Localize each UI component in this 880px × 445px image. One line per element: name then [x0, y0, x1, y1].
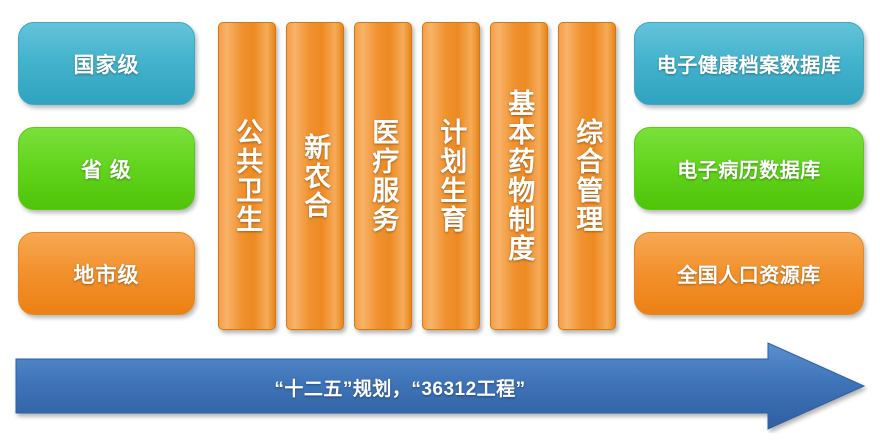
- diagram-canvas: 国家级 省 级 地市级 公共卫生 新农合 医疗服务 计划生育 基本药物制度 综合…: [0, 0, 880, 445]
- pillar-integrated-management[interactable]: 综合管理: [558, 22, 616, 330]
- database-box-emr[interactable]: 电子病历数据库: [634, 127, 864, 210]
- level-box-national-label: 国家级: [74, 49, 140, 79]
- strategy-arrow-banner[interactable]: [14, 341, 868, 433]
- pillar-new-rural-coop-label: 新农合: [301, 133, 330, 220]
- level-box-provincial[interactable]: 省 级: [18, 127, 195, 210]
- database-box-population[interactable]: 全国人口资源库: [634, 232, 864, 315]
- pillar-public-health[interactable]: 公共卫生: [218, 22, 276, 330]
- pillar-family-planning[interactable]: 计划生育: [422, 22, 480, 330]
- arrow-shape-icon: [14, 341, 868, 433]
- level-box-national[interactable]: 国家级: [18, 22, 195, 105]
- pillar-essential-medicine-label: 基本药物制度: [505, 89, 534, 263]
- database-box-health-records-label: 电子健康档案数据库: [657, 49, 842, 78]
- pillar-integrated-management-label: 综合管理: [573, 118, 602, 234]
- pillar-medical-service-label: 医疗服务: [369, 118, 398, 234]
- database-box-health-records[interactable]: 电子健康档案数据库: [634, 22, 864, 105]
- level-box-municipal-label: 地市级: [74, 259, 140, 289]
- level-box-municipal[interactable]: 地市级: [18, 232, 195, 315]
- pillar-new-rural-coop[interactable]: 新农合: [286, 22, 344, 330]
- database-box-emr-label: 电子病历数据库: [677, 154, 821, 183]
- pillar-family-planning-label: 计划生育: [437, 118, 466, 234]
- pillar-medical-service[interactable]: 医疗服务: [354, 22, 412, 330]
- pillar-public-health-label: 公共卫生: [233, 118, 262, 234]
- pillar-essential-medicine[interactable]: 基本药物制度: [490, 22, 548, 330]
- level-box-provincial-label: 省 级: [81, 154, 132, 184]
- database-box-population-label: 全国人口资源库: [677, 259, 821, 288]
